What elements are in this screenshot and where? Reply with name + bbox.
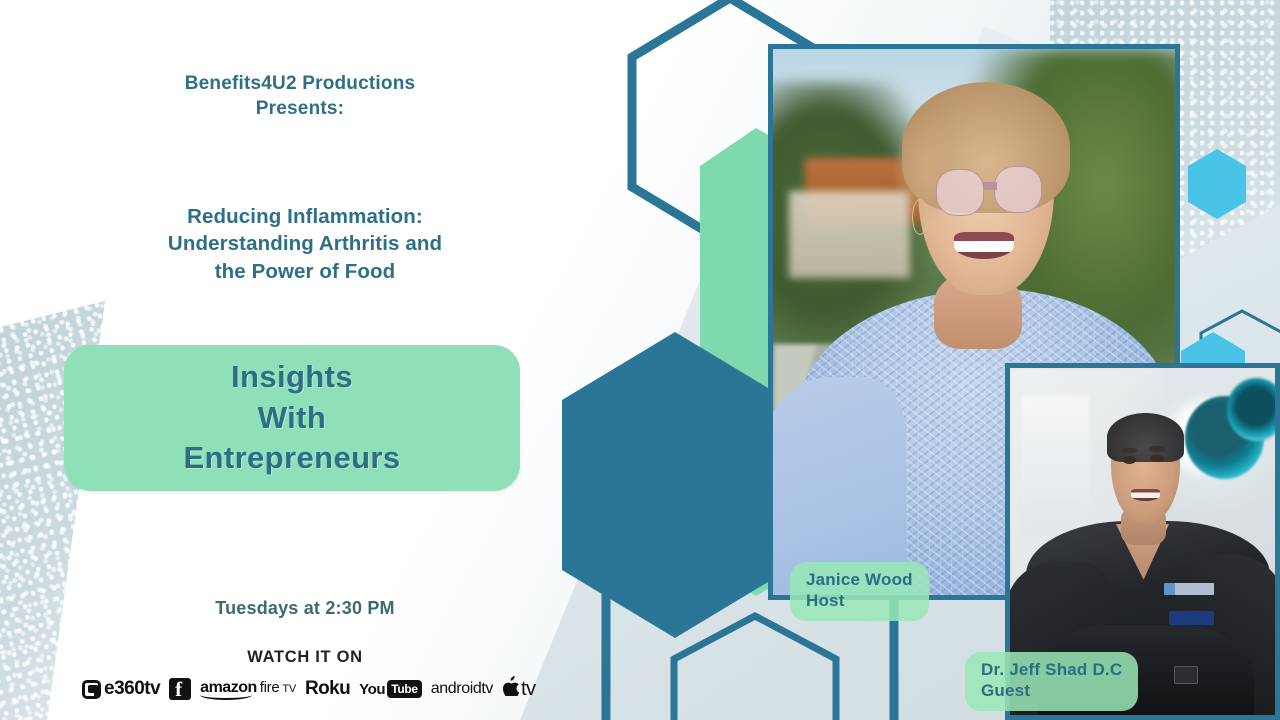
apple-logo-icon [502,676,519,700]
e360tv-camera-icon [82,680,101,699]
presenter-block: Benefits4U2 Productions Presents: [150,72,450,121]
eyebrow-left [1121,448,1137,453]
watch-it-on-heading: WATCH IT ON [145,648,465,667]
facebook-icon [169,678,191,700]
surgical-lamp-ring-secondary [1227,378,1280,440]
episode-title: Reducing Inflammation: Understanding Art… [140,203,470,285]
host-name-badge: Janice Wood Host [790,562,929,621]
scrubs-name-badge [1169,611,1214,626]
show-title-line-1: Insights [183,357,400,398]
platform-facebook[interactable] [169,676,191,702]
apple-tv-label: tv [521,678,536,701]
roku-wordmark: Roku [305,678,350,700]
smile [1131,489,1160,500]
episode-title-line-1: Reducing Inflammation: [140,203,470,230]
sunglasses-bridge [983,182,996,190]
schedule-text: Tuesdays at 2:30 PM [145,598,465,619]
platform-roku[interactable]: Roku [305,676,350,702]
firetv-tv-label: TV [282,683,296,695]
hair [1107,413,1184,462]
amazon-label: amazon [200,679,257,697]
host-name: Janice Wood [806,569,913,590]
show-title-line-3: Entrepreneurs [183,438,400,479]
episode-title-line-3: the Power of Food [140,258,470,285]
show-title-line-2: With [183,398,400,439]
hoop-earring [912,199,928,234]
promo-graphic: Janice Wood Host Dr. Jeff Shad D.C Guest… [0,0,1280,720]
youtube-icon: Tube [387,680,422,698]
eye-left [1123,456,1136,464]
guest-role: Guest [981,680,1122,701]
platform-amazon-fire-tv[interactable]: amazon fire TV [200,676,296,702]
sunglasses-left-lens [936,169,984,215]
fire-label: fire [260,679,280,696]
presenter-line-1: Benefits4U2 Productions [150,72,450,97]
platform-logo-strip: e360tv amazon fire TV Roku You Tube andr… [82,674,552,704]
host-role: Host [806,590,913,611]
wristwatch [1174,666,1198,683]
e360tv-label: e360tv [104,678,160,700]
eyebrow-right [1149,446,1165,451]
platform-e360tv[interactable]: e360tv [82,676,160,702]
youtube-you-label: You [359,681,385,698]
scrubs-chest-logo [1164,583,1214,595]
show-title-text: Insights With Entrepreneurs [183,357,400,480]
guest-name-badge: Dr. Jeff Shad D.C Guest [965,652,1138,711]
clinic-panel [1021,396,1090,535]
guest-name: Dr. Jeff Shad D.C [981,659,1122,680]
hexagon-outline-bottom-small [670,612,840,720]
show-title-banner: Insights With Entrepreneurs [64,345,520,491]
hexagon-cyan-accent-top [1186,148,1248,220]
platform-apple-tv[interactable]: tv [502,676,536,702]
amazon-smile-icon [200,695,252,700]
episode-title-line-2: Understanding Arthritis and [140,230,470,257]
platform-android-tv[interactable]: androidtv [431,676,493,702]
androidtv-wordmark: androidtv [431,680,493,698]
sunglasses-right-lens [994,166,1042,212]
presenter-line-2: Presents: [150,97,450,122]
platform-youtube[interactable]: You Tube [359,676,422,702]
building-wall [789,191,910,278]
eye-right [1150,455,1163,463]
